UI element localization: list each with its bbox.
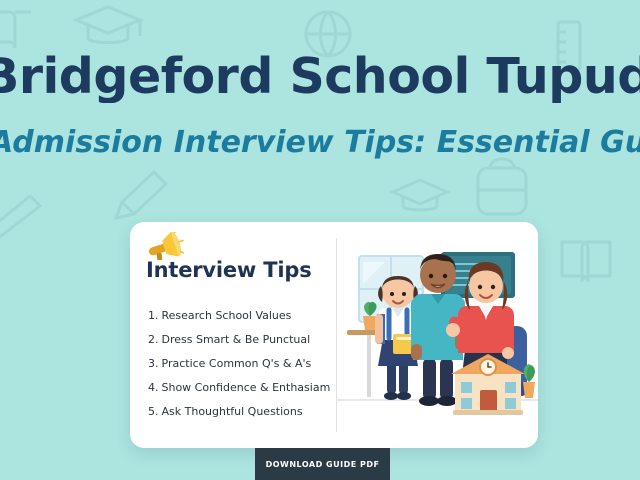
tip-number: 5.	[148, 405, 159, 418]
tip-number: 3.	[148, 357, 159, 370]
tip-text: Dress Smart & Be Punctual	[162, 333, 311, 346]
tip-number: 2.	[148, 333, 159, 346]
tip-number: 1.	[148, 309, 159, 322]
card-illustration-column	[337, 222, 538, 448]
megaphone-icon	[148, 232, 184, 260]
book-doodle	[556, 232, 616, 290]
poster-canvas: Bridgeford School Tupudana Admission Int…	[0, 0, 640, 480]
page-subtitle: Admission Interview Tips: Essential Guid…	[0, 126, 640, 159]
list-item: 3.Practice Common Q's & A's	[148, 358, 330, 369]
list-item: 1.Research School Values	[148, 310, 330, 321]
tip-text: Practice Common Q's & A's	[162, 357, 312, 370]
list-item: 5.Ask Thoughtful Questions	[148, 406, 330, 417]
list-item: 2.Dress Smart & Be Punctual	[148, 334, 330, 345]
interview-tips-card: Interview Tips 1.Research School Values …	[130, 222, 538, 448]
tip-text: Research School Values	[162, 309, 292, 322]
page-title: Bridgeford School Tupudana	[0, 52, 640, 103]
download-guide-pdf-button[interactable]: DOWNLOAD GUIDE PDF	[260, 456, 386, 473]
card-heading: Interview Tips	[146, 258, 312, 282]
tip-number: 4.	[148, 381, 159, 394]
list-item: 4.Show Confidence & Enthasiam	[148, 382, 330, 393]
pencil-doodle	[0, 188, 52, 246]
school-interview-illustration	[337, 222, 538, 448]
tip-text: Ask Thoughtful Questions	[162, 405, 303, 418]
tips-list: 1.Research School Values 2.Dress Smart &…	[148, 310, 330, 430]
cta-panel: DOWNLOAD GUIDE PDF	[255, 448, 390, 480]
card-text-column: Interview Tips 1.Research School Values …	[130, 222, 336, 448]
poster-header: Bridgeford School Tupudana Admission Int…	[0, 0, 640, 195]
tip-text: Show Confidence & Enthasiam	[162, 381, 331, 394]
